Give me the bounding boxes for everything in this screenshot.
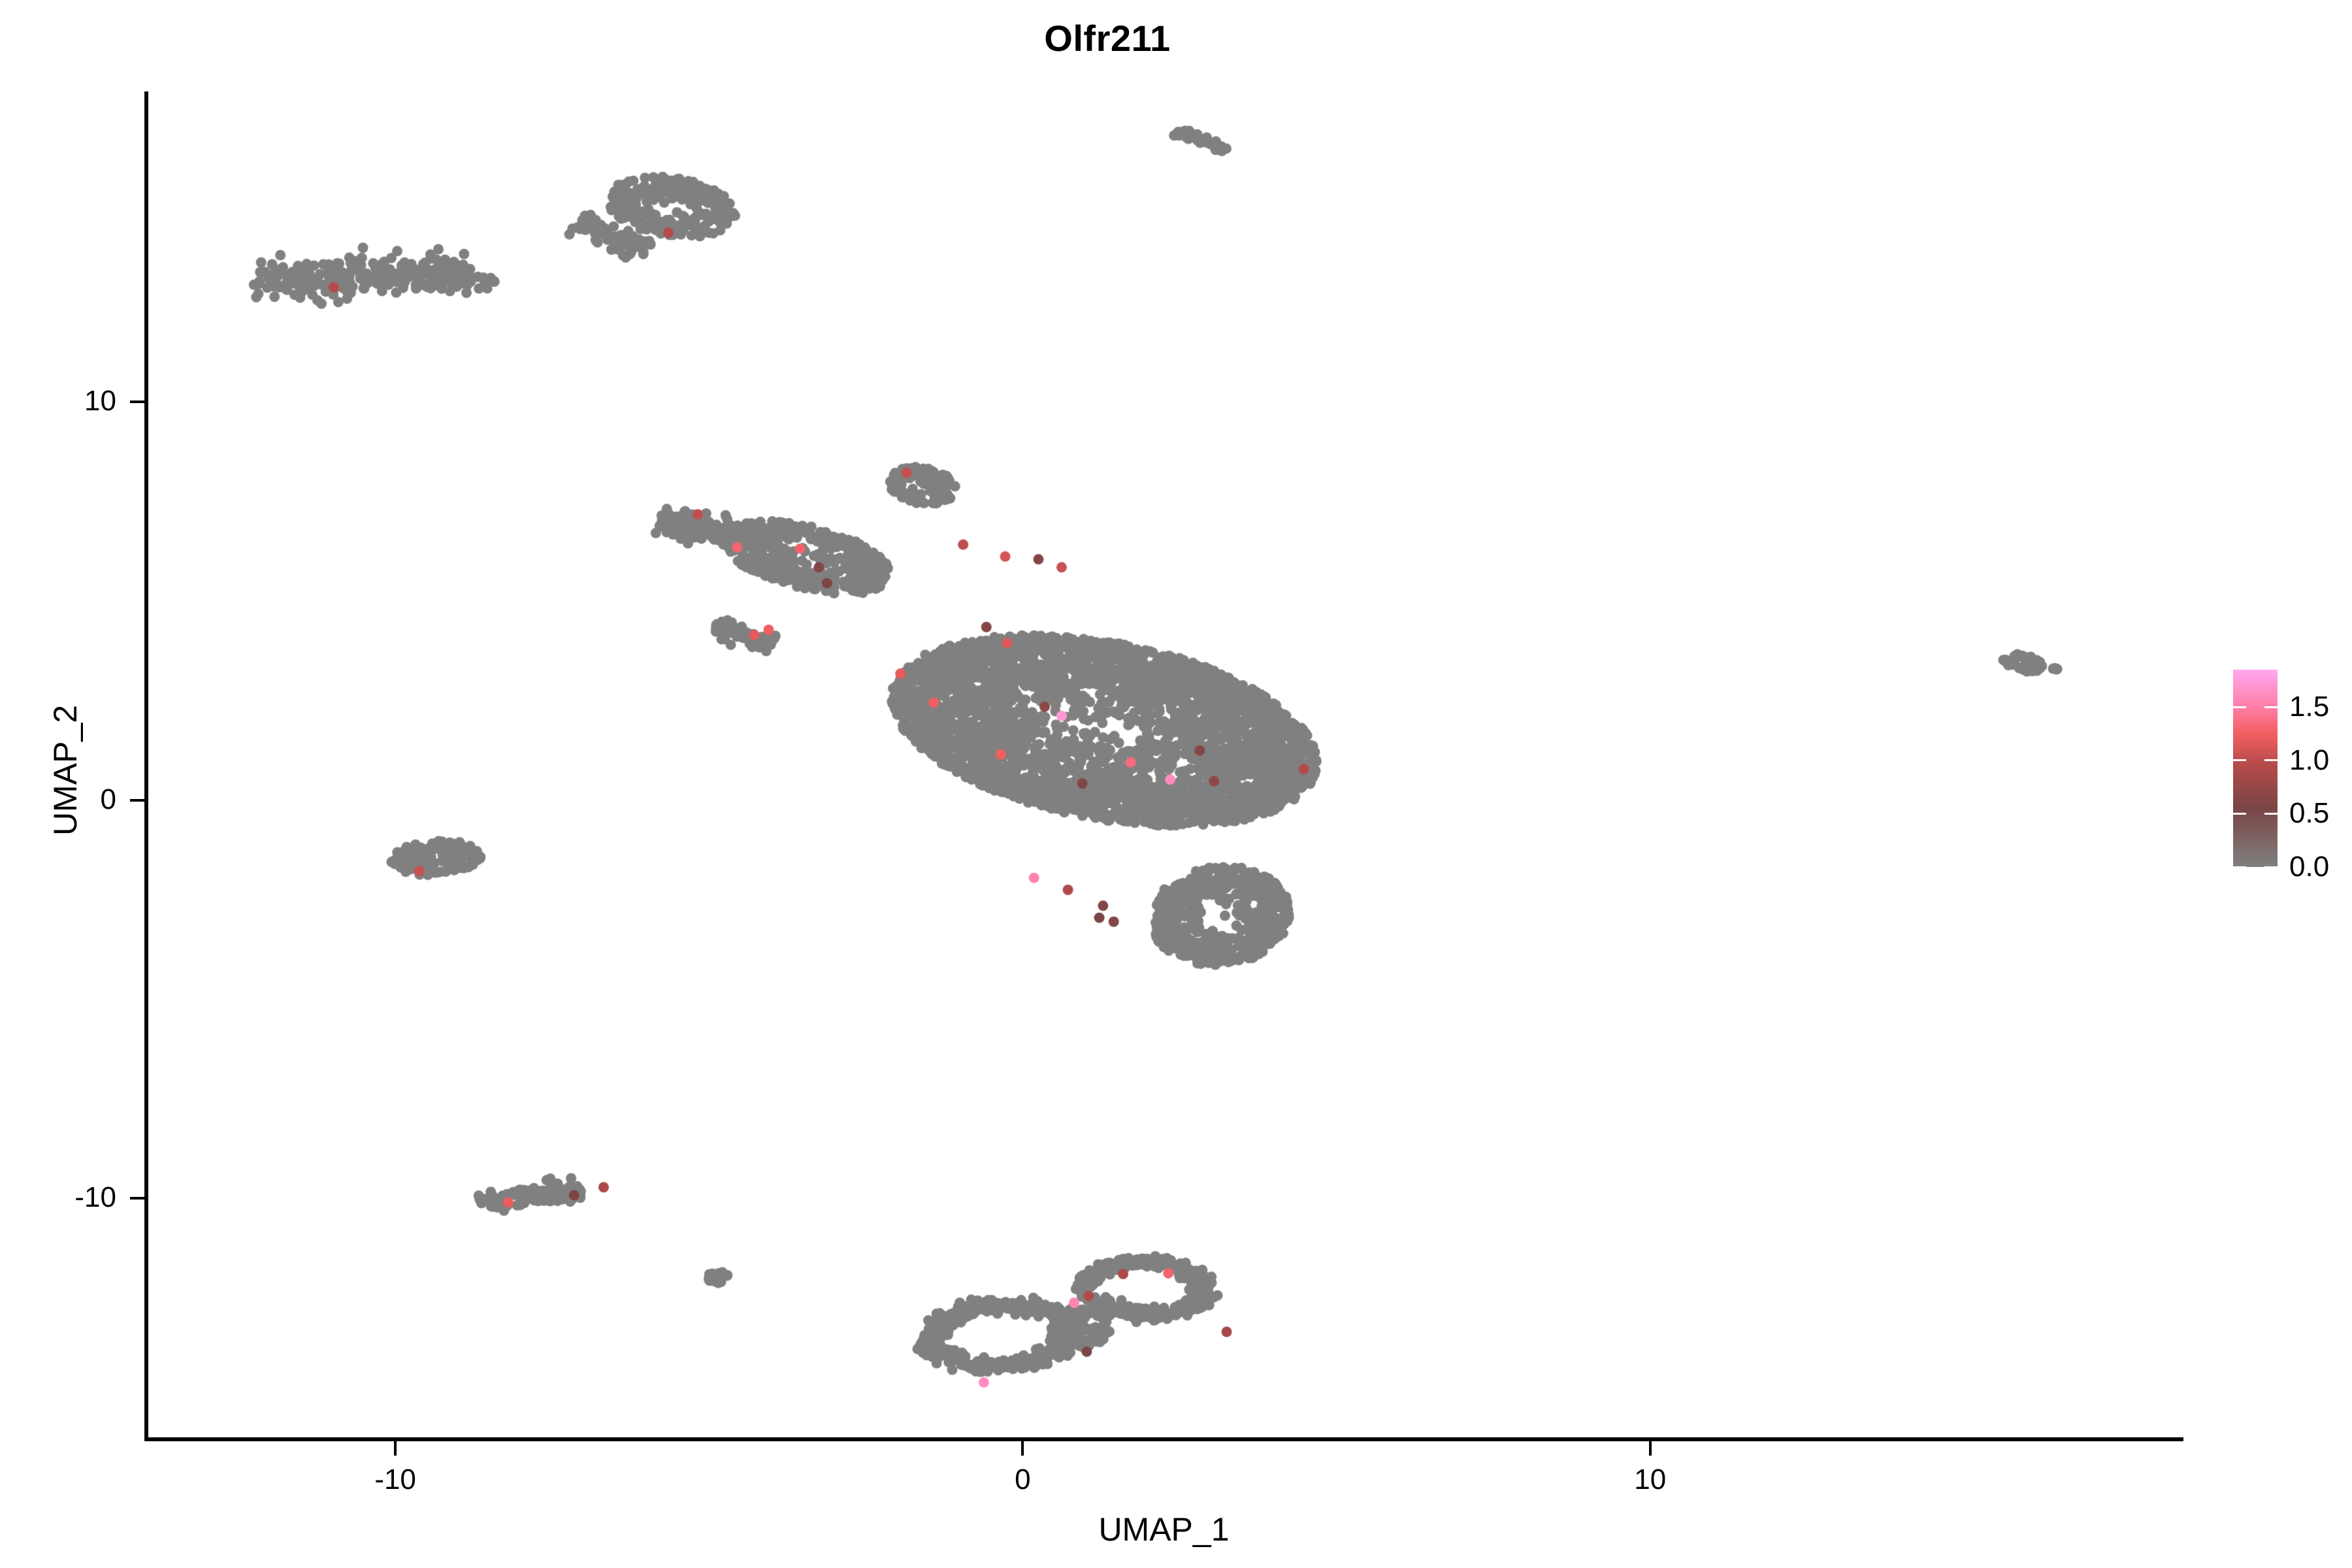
- y-axis-line: [144, 91, 148, 1441]
- x-tick-mark: [1649, 1441, 1652, 1456]
- colorbar-tick-label: 0.5: [2289, 797, 2329, 830]
- colorbar-tick-mark: [2264, 759, 2278, 761]
- y-tick-mark: [130, 400, 144, 403]
- colorbar-tick-mark: [2233, 759, 2246, 761]
- y-tick-label: 10: [0, 385, 116, 417]
- y-axis-title: UMAP_2: [46, 672, 84, 868]
- page-title: Olfr211: [0, 17, 2215, 59]
- colorbar-tick-mark: [2264, 813, 2278, 815]
- y-tick-mark: [130, 1197, 144, 1200]
- colorbar-tick-mark: [2264, 866, 2278, 868]
- x-tick-label: -10: [336, 1463, 454, 1496]
- x-tick-label: 10: [1592, 1463, 1709, 1496]
- colorbar-tick-mark: [2264, 706, 2278, 708]
- x-axis-line: [144, 1437, 2183, 1441]
- x-tick-label: 0: [964, 1463, 1081, 1496]
- x-axis-title: UMAP_1: [144, 1511, 2183, 1548]
- colorbar-tick-mark: [2233, 813, 2246, 815]
- colorbar-gradient: [2233, 670, 2278, 867]
- colorbar-tick-mark: [2233, 706, 2246, 708]
- scatter-plot-canvas: [144, 91, 2183, 1437]
- colorbar-canvas: [2233, 670, 2278, 867]
- colorbar-tick-label: 1.0: [2289, 744, 2329, 777]
- y-tick-mark: [130, 799, 144, 802]
- colorbar-tick-label: 1.5: [2289, 691, 2329, 723]
- x-tick-mark: [394, 1441, 397, 1456]
- colorbar-tick-label: 0.0: [2289, 851, 2329, 883]
- x-tick-mark: [1021, 1441, 1024, 1456]
- umap-scatter-plot: Olfr211 -10010 -10010 UMAP_1 UMAP_2 0.00…: [0, 0, 2352, 1568]
- y-tick-label: -10: [0, 1181, 116, 1214]
- colorbar-tick-mark: [2233, 866, 2246, 868]
